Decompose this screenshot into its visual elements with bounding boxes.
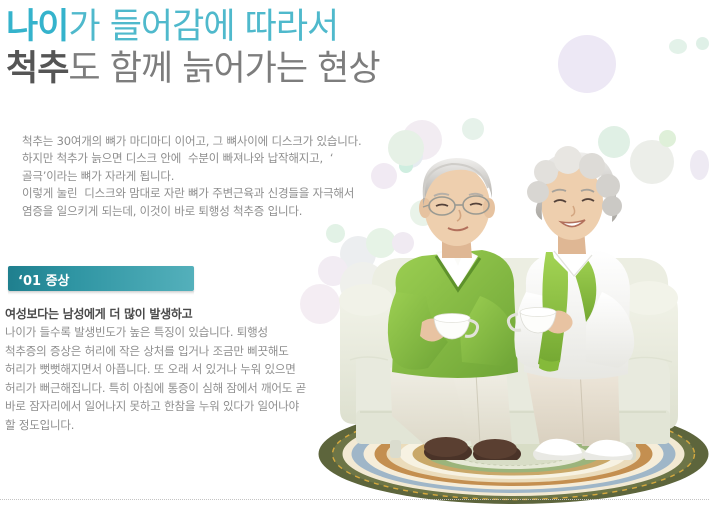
section-body-paragraph: 나이가 들수록 발생빈도가 높은 특징이 있습니다. 퇴행성 척추증의 증상은 … (5, 323, 306, 434)
section-badge-label: 증상 (46, 274, 70, 289)
section-body-line: 할 정도입니다. (5, 416, 306, 435)
section-header-bar: ‘01 증상 (8, 266, 194, 291)
section-bar-shadow (8, 291, 194, 295)
intro-line: 골극’이라는 뼈가 자라게 됩니다. (22, 168, 361, 185)
title-line-1-strong: 나이 (6, 7, 68, 47)
section-body-line: 허리가 뻐근해집니다. 특히 아침에 통증이 심해 잠에서 깨어도 곧 (5, 379, 306, 398)
title-line-2-strong: 척추 (6, 49, 68, 89)
intro-paragraph: 척추는 30여개의 뼈가 마디마디 이어고, 그 뼈사이에 디스크가 있습니다.… (22, 133, 361, 220)
intro-line: 척추는 30여개의 뼈가 마디마디 이어고, 그 뼈사이에 디스크가 있습니다. (22, 133, 361, 150)
bubble (669, 39, 687, 54)
intro-line: 하지만 척추가 늙으면 디스크 안에 수분이 빠져나와 납작해지고, ‘ (22, 150, 361, 167)
section-body-line: 허리가 뻣뻣해지면서 아픕니다. 또 오래 서 있거나 누워 있으면 (5, 360, 306, 379)
page-canvas: 나이가 들어감에 따라서 척추도 함께 늙어가는 현상 척추는 30여개의 뼈가… (0, 0, 709, 527)
footer-divider (0, 499, 709, 500)
title-line-1-rest: 가 들어감에 따라서 (68, 7, 338, 47)
section-body-line: 바로 잠자리에서 일어나지 못하고 한참을 누워 있다가 일어나야 (5, 397, 306, 416)
bubble (558, 35, 616, 93)
intro-line: 염증을 일으키게 되는데, 이것이 바로 퇴행성 척추증 입니다. (22, 203, 361, 220)
section-body-line: 나이가 들수록 발생빈도가 높은 특징이 있습니다. 퇴행성 (5, 323, 306, 342)
section-body-line: 척추증의 증상은 허리에 작은 상처를 입거나 조금만 삐끗해도 (5, 342, 306, 361)
title-line-2: 척추도 함께 늙어가는 현상 (6, 52, 380, 87)
section-header-label: ‘01 증상 (18, 270, 69, 289)
intro-line: 이렇게 눌린 디스크와 맘대로 자란 뼈가 주변근육과 신경들을 자극해서 (22, 185, 361, 202)
bubble (696, 37, 709, 50)
section-lead-text: 여성보다는 남성에게 더 많이 발생하고 (5, 305, 192, 322)
section-badge-number: ‘01 (18, 274, 41, 289)
page-title: 나이가 들어감에 따라서 척추도 함께 늙어가는 현상 (6, 10, 380, 87)
elderly-man (388, 158, 521, 460)
title-line-1: 나이가 들어감에 따라서 (6, 10, 380, 45)
elderly-couple-on-sofa-illustration (330, 110, 709, 460)
title-line-2-rest: 도 함께 늙어가는 현상 (68, 49, 379, 89)
